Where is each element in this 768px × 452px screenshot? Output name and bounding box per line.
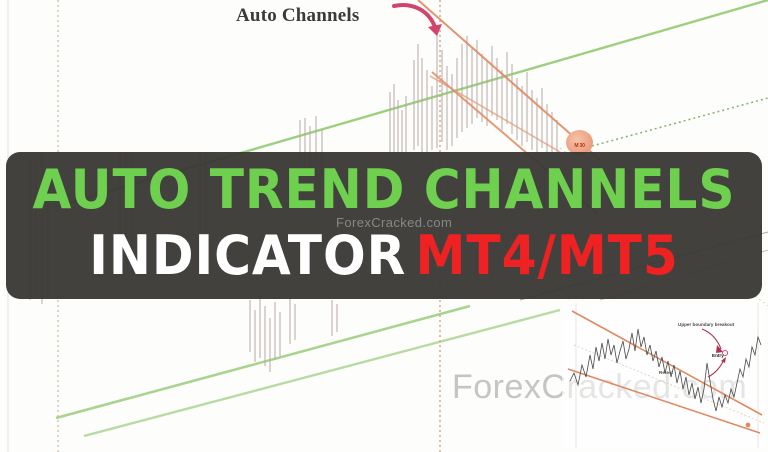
inset-label-breakout: Upper boundary breakout — [678, 322, 734, 327]
inset-target-dot — [746, 423, 751, 428]
title-platform-word: MT4/MT5 — [416, 224, 679, 287]
title-indicator-word: INDICATOR — [89, 224, 406, 287]
title-line-primary: AUTO TREND CHANNELS — [32, 160, 735, 220]
curved-arrow-icon — [392, 0, 448, 44]
inset-label-retest: Retest — [659, 370, 673, 375]
watermark-small: ForexCracked.com — [336, 215, 452, 230]
title-line-secondary: INDICATORMT4/MT5 — [32, 226, 735, 286]
promo-banner: Auto Channels M 30 ForexCracked.com — [0, 0, 768, 452]
auto-channels-callout-label: Auto Channels — [236, 5, 360, 27]
m30-marker-label: M 30 — [566, 143, 593, 149]
inset-breakout-chart: Upper boundary breakout Entry Retest — [562, 303, 765, 448]
inset-label-entry: Entry — [712, 353, 724, 358]
